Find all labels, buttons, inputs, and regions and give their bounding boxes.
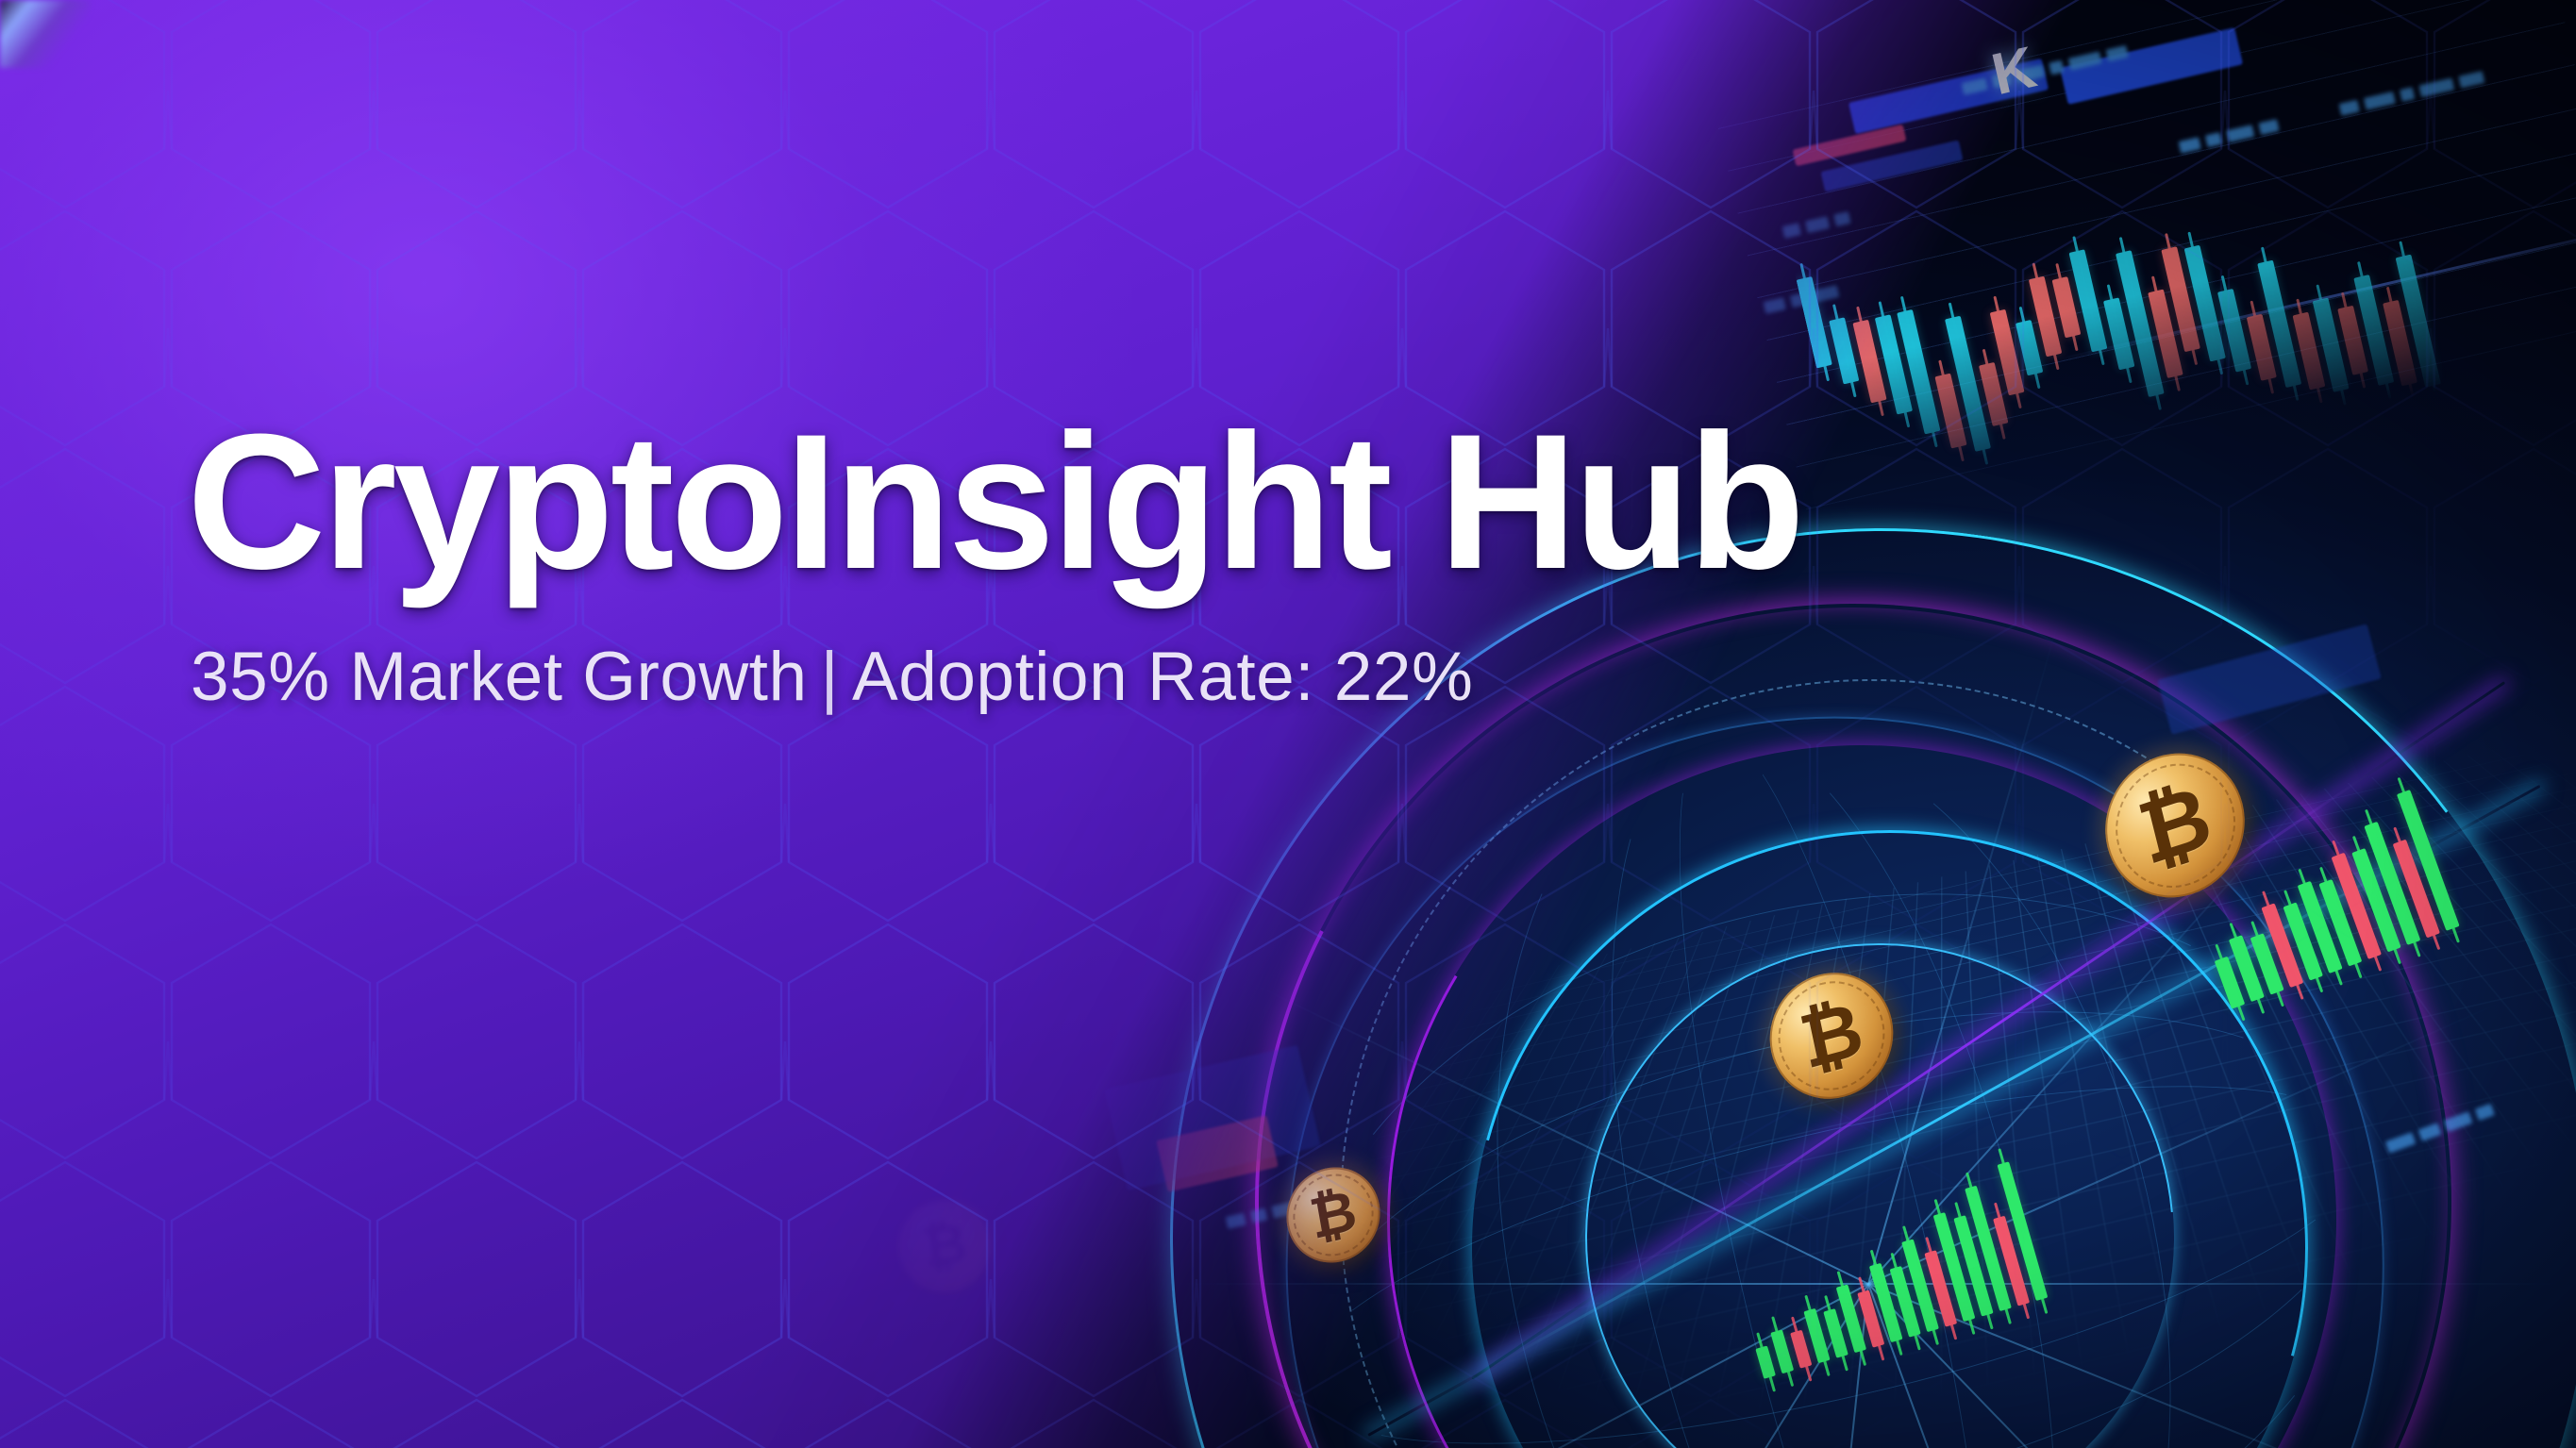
page-title: CryptoInsight Hub <box>187 406 2357 598</box>
market-growth-stat: 35% Market Growth <box>191 639 808 715</box>
hero-subtitle: 35% Market Growth|Adoption Rate: 22% <box>191 638 2357 716</box>
corner-artifact <box>0 0 91 68</box>
hexagon-pattern <box>0 0 2576 1448</box>
adoption-rate-stat: Adoption Rate: 22% <box>852 639 1473 715</box>
hero-text-block: CryptoInsight Hub 35% Market Growth|Adop… <box>187 406 2357 716</box>
hero-banner: K ₿ ₿ ₿ ₿ <box>0 0 2576 1448</box>
subtitle-separator: | <box>808 639 852 715</box>
